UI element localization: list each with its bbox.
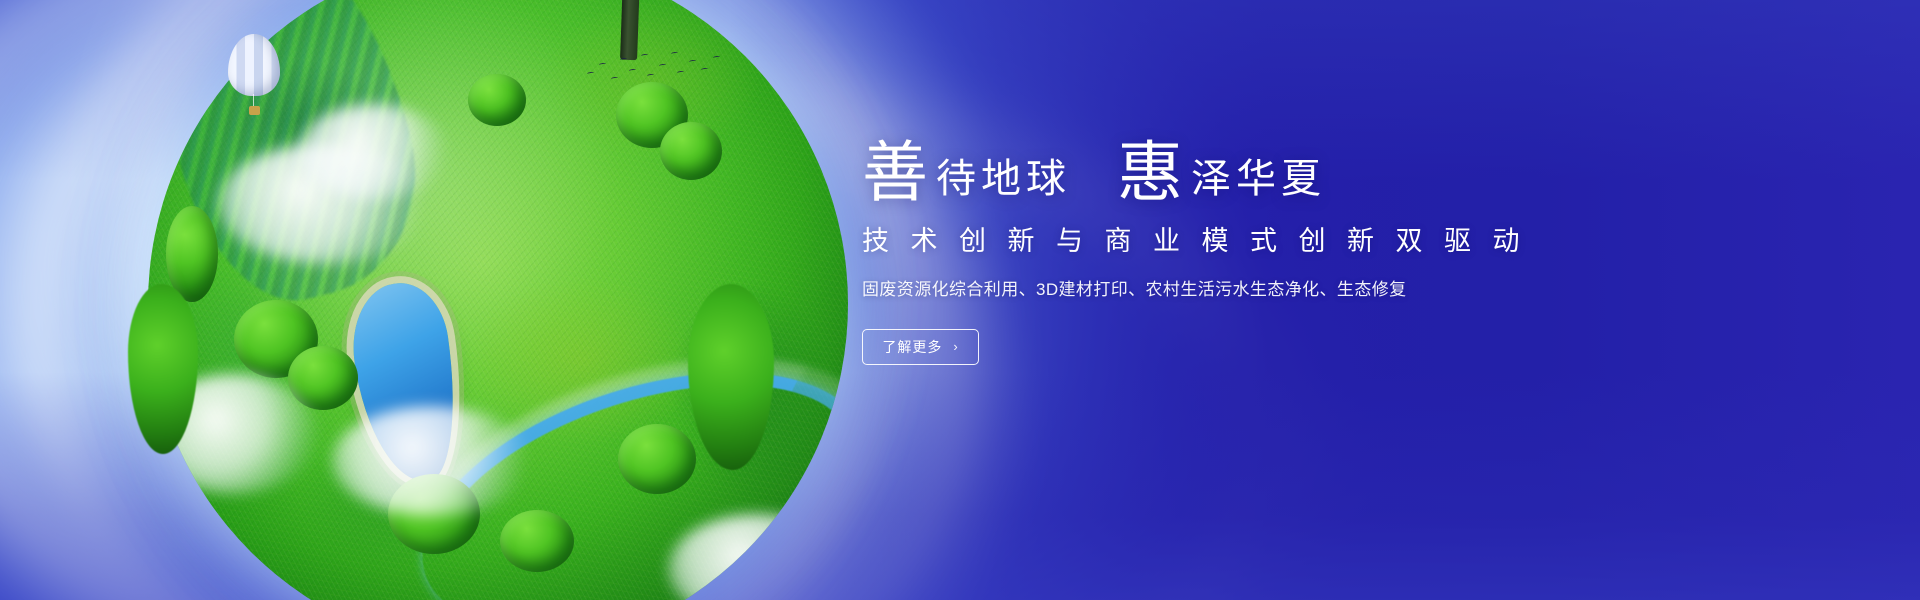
headline: 善 待地球 惠 泽华夏 [862,140,1762,206]
headline-small-1: 待地球 [936,159,1071,206]
learn-more-button[interactable]: 了解更多 › [862,329,979,365]
globe-cloud [332,406,532,516]
headline-big-2: 惠 [1117,140,1183,206]
bird-icon [620,58,627,62]
headline-small-2: 泽华夏 [1191,159,1326,206]
globe-tree-cluster [500,510,574,572]
bird-icon [641,54,648,58]
description: 固废资源化综合利用、3D建材打印、农村生活污水生态净化、生态修复 [862,277,1762,303]
balloon-basket [249,106,260,115]
globe-cloud [298,104,448,200]
bird-icon [611,77,618,81]
globe-tree-cluster [618,424,696,494]
headline-big-1: 善 [862,140,928,206]
learn-more-label: 了解更多 [882,337,942,357]
bird-icon [587,72,594,76]
bird-icon [677,71,684,75]
bird-icon [599,63,606,67]
bird-icon [659,64,666,68]
bird-icon [713,56,720,60]
balloon-envelope [228,34,280,96]
bird-icon [689,60,696,64]
bird-icon [647,74,654,78]
bird-icon [629,69,636,73]
globe-tree-cluster [660,122,722,180]
chevron-right-icon: › [953,340,958,353]
tagline: 技 术 创 新 与 商 业 模 式 创 新 双 驱 动 [862,224,1762,259]
hero-banner: 善 待地球 惠 泽华夏 技 术 创 新 与 商 业 模 式 创 新 双 驱 动 … [0,0,1920,600]
hot-air-balloon-icon [228,34,280,120]
bird-flock [585,50,725,96]
bird-icon [701,68,708,72]
banner-content: 善 待地球 惠 泽华夏 技 术 创 新 与 商 业 模 式 创 新 双 驱 动 … [862,140,1762,365]
globe-tree-cluster [468,74,526,126]
bird-icon [671,52,678,56]
